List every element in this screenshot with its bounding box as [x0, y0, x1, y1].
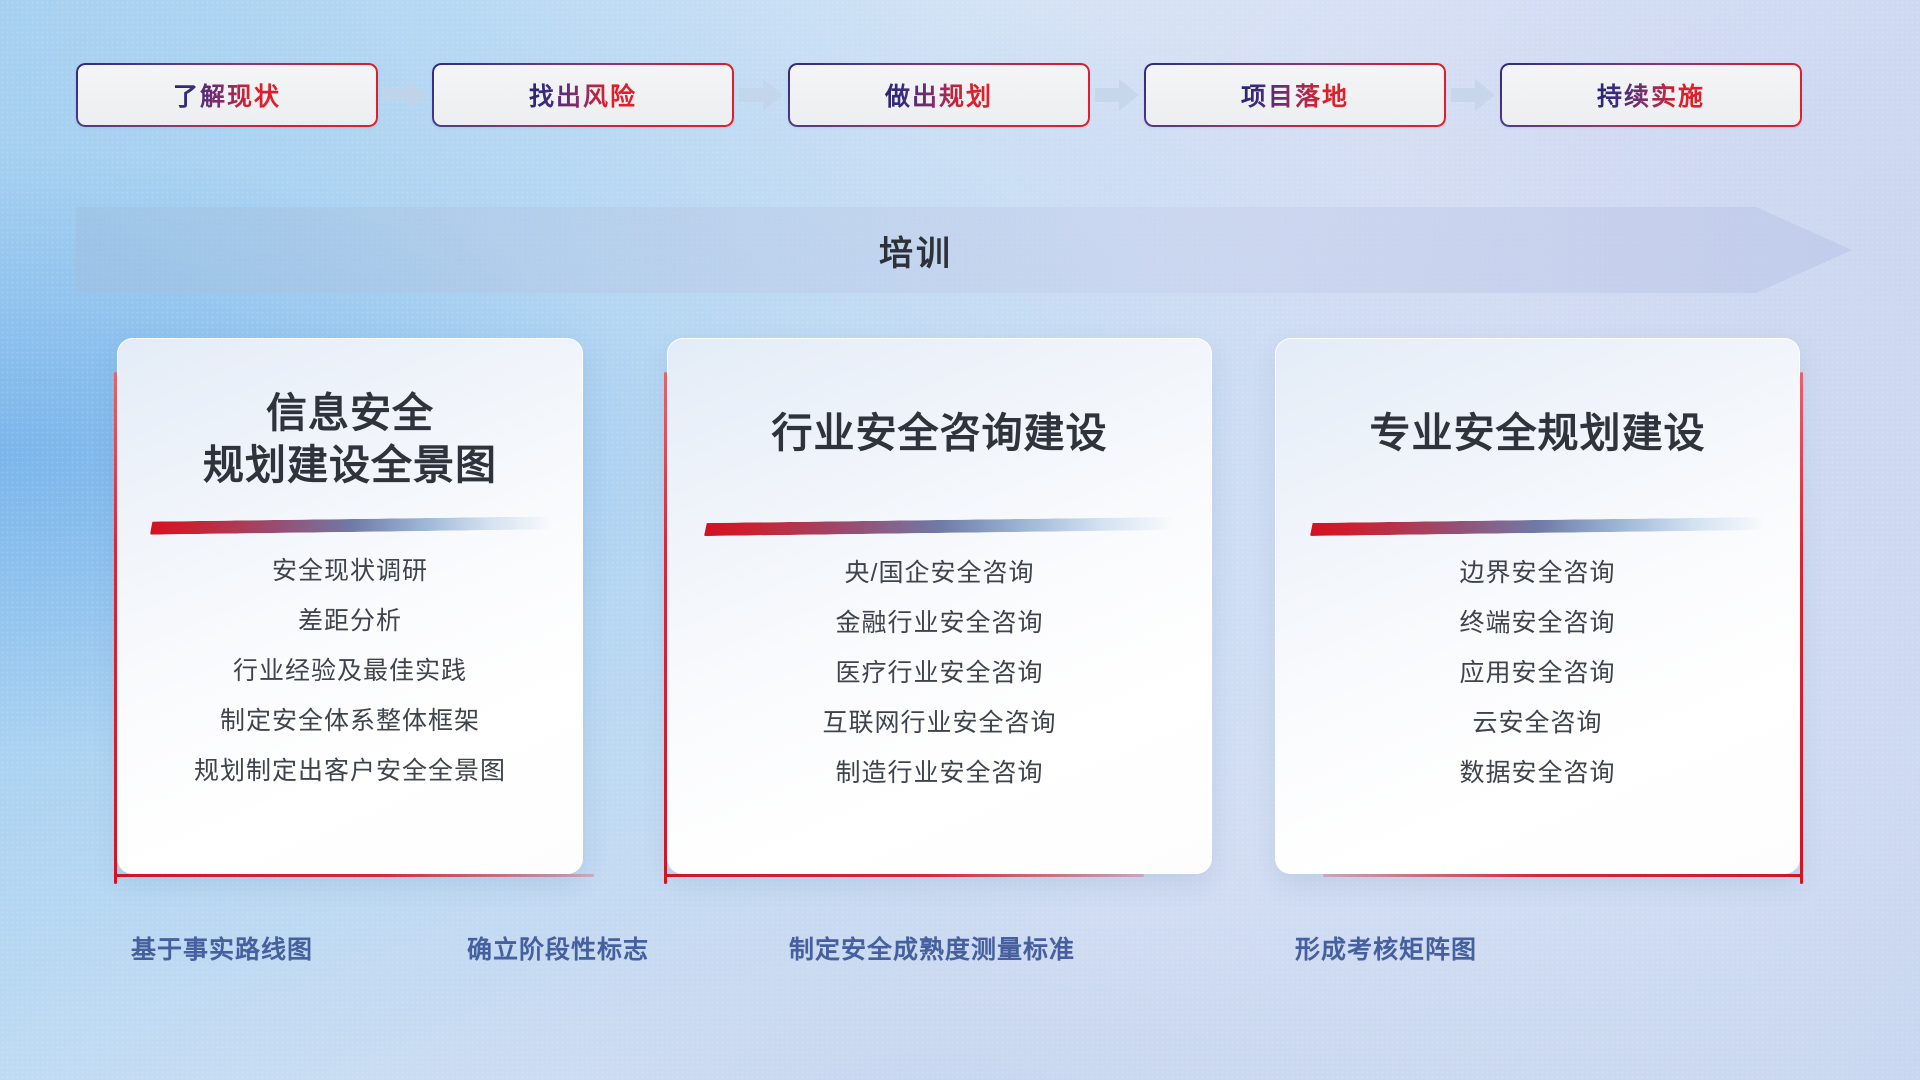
- step-arrow-icon-2: [734, 63, 788, 127]
- footer-caption-2: 确立阶段性标志: [467, 930, 649, 966]
- step-arrow-icon-3: [1090, 63, 1144, 127]
- card-industry-security-consulting[interactable]: 行业安全咨询建设 央/国企安全咨询 金融行业安全咨询 医疗行业安全咨询 互联网行…: [667, 338, 1212, 874]
- list-item[interactable]: 边界安全咨询: [1275, 548, 1800, 598]
- training-banner-label: 培训: [76, 207, 1756, 293]
- list-item[interactable]: 制定安全体系整体框架: [117, 696, 583, 746]
- list-item[interactable]: 央/国企安全咨询: [667, 548, 1212, 598]
- list-item[interactable]: 安全现状调研: [117, 546, 583, 596]
- training-banner: 培训: [76, 207, 1852, 293]
- slide-canvas: 了解现状 找出风险 做出规划 项目落地: [0, 0, 1920, 1080]
- list-item[interactable]: 金融行业安全咨询: [667, 598, 1212, 648]
- footer-caption-1: 基于事实路线图: [131, 930, 313, 966]
- card-info-security-panorama[interactable]: 信息安全 规划建设全景图 安全现状调研 差距分析 行业经验及最佳实践 制定安全体…: [117, 338, 583, 874]
- card-3-accent-edge-vertical: [1800, 372, 1803, 884]
- list-item[interactable]: 制造行业安全咨询: [667, 748, 1212, 798]
- process-step-4[interactable]: 项目落地: [1144, 63, 1446, 127]
- process-step-2-label: 找出风险: [529, 77, 637, 113]
- step-arrow-icon-1: [378, 63, 432, 127]
- card-professional-security-planning[interactable]: 专业安全规划建设 边界安全咨询 终端安全咨询 应用安全咨询 云安全咨询 数据安全…: [1275, 338, 1800, 874]
- process-step-1-label: 了解现状: [173, 77, 281, 113]
- process-step-5[interactable]: 持续实施: [1500, 63, 1802, 127]
- card-1-title: 信息安全 规划建设全景图: [117, 388, 583, 491]
- process-step-2[interactable]: 找出风险: [432, 63, 734, 127]
- list-item[interactable]: 医疗行业安全咨询: [667, 648, 1212, 698]
- card-2-list: 央/国企安全咨询 金融行业安全咨询 医疗行业安全咨询 互联网行业安全咨询 制造行…: [667, 548, 1212, 798]
- list-item[interactable]: 应用安全咨询: [1275, 648, 1800, 698]
- card-2-accent-bar: [704, 517, 1174, 536]
- list-item[interactable]: 行业经验及最佳实践: [117, 646, 583, 696]
- card-3-accent-bar: [1310, 517, 1765, 536]
- footer-caption-4: 形成考核矩阵图: [1295, 930, 1477, 966]
- process-step-3[interactable]: 做出规划: [788, 63, 1090, 127]
- card-1-accent-edge-horizontal: [114, 874, 594, 877]
- list-item[interactable]: 云安全咨询: [1275, 698, 1800, 748]
- card-2-title: 行业安全咨询建设: [667, 408, 1212, 460]
- process-step-4-label: 项目落地: [1241, 77, 1349, 113]
- footer-caption-3: 制定安全成熟度测量标准: [789, 930, 1075, 966]
- list-item[interactable]: 规划制定出客户安全全景图: [117, 746, 583, 796]
- process-step-row: 了解现状 找出风险 做出规划 项目落地: [0, 63, 1920, 127]
- card-1-accent-bar: [150, 516, 552, 534]
- list-item[interactable]: 终端安全咨询: [1275, 598, 1800, 648]
- card-3-list: 边界安全咨询 终端安全咨询 应用安全咨询 云安全咨询 数据安全咨询: [1275, 548, 1800, 798]
- card-row: 信息安全 规划建设全景图 安全现状调研 差距分析 行业经验及最佳实践 制定安全体…: [0, 338, 1920, 874]
- card-1-list: 安全现状调研 差距分析 行业经验及最佳实践 制定安全体系整体框架 规划制定出客户…: [117, 546, 583, 796]
- footer-caption-row: 基于事实路线图 确立阶段性标志 制定安全成熟度测量标准 形成考核矩阵图: [0, 930, 1920, 976]
- process-step-1[interactable]: 了解现状: [76, 63, 378, 127]
- step-arrow-icon-4: [1446, 63, 1500, 127]
- card-3-title: 专业安全规划建设: [1275, 408, 1800, 460]
- list-item[interactable]: 差距分析: [117, 596, 583, 646]
- list-item[interactable]: 数据安全咨询: [1275, 748, 1800, 798]
- card-2-accent-edge-horizontal: [664, 874, 1144, 877]
- process-step-3-label: 做出规划: [885, 77, 993, 113]
- card-3-accent-edge-horizontal: [1323, 874, 1803, 877]
- process-step-5-label: 持续实施: [1597, 77, 1705, 113]
- list-item[interactable]: 互联网行业安全咨询: [667, 698, 1212, 748]
